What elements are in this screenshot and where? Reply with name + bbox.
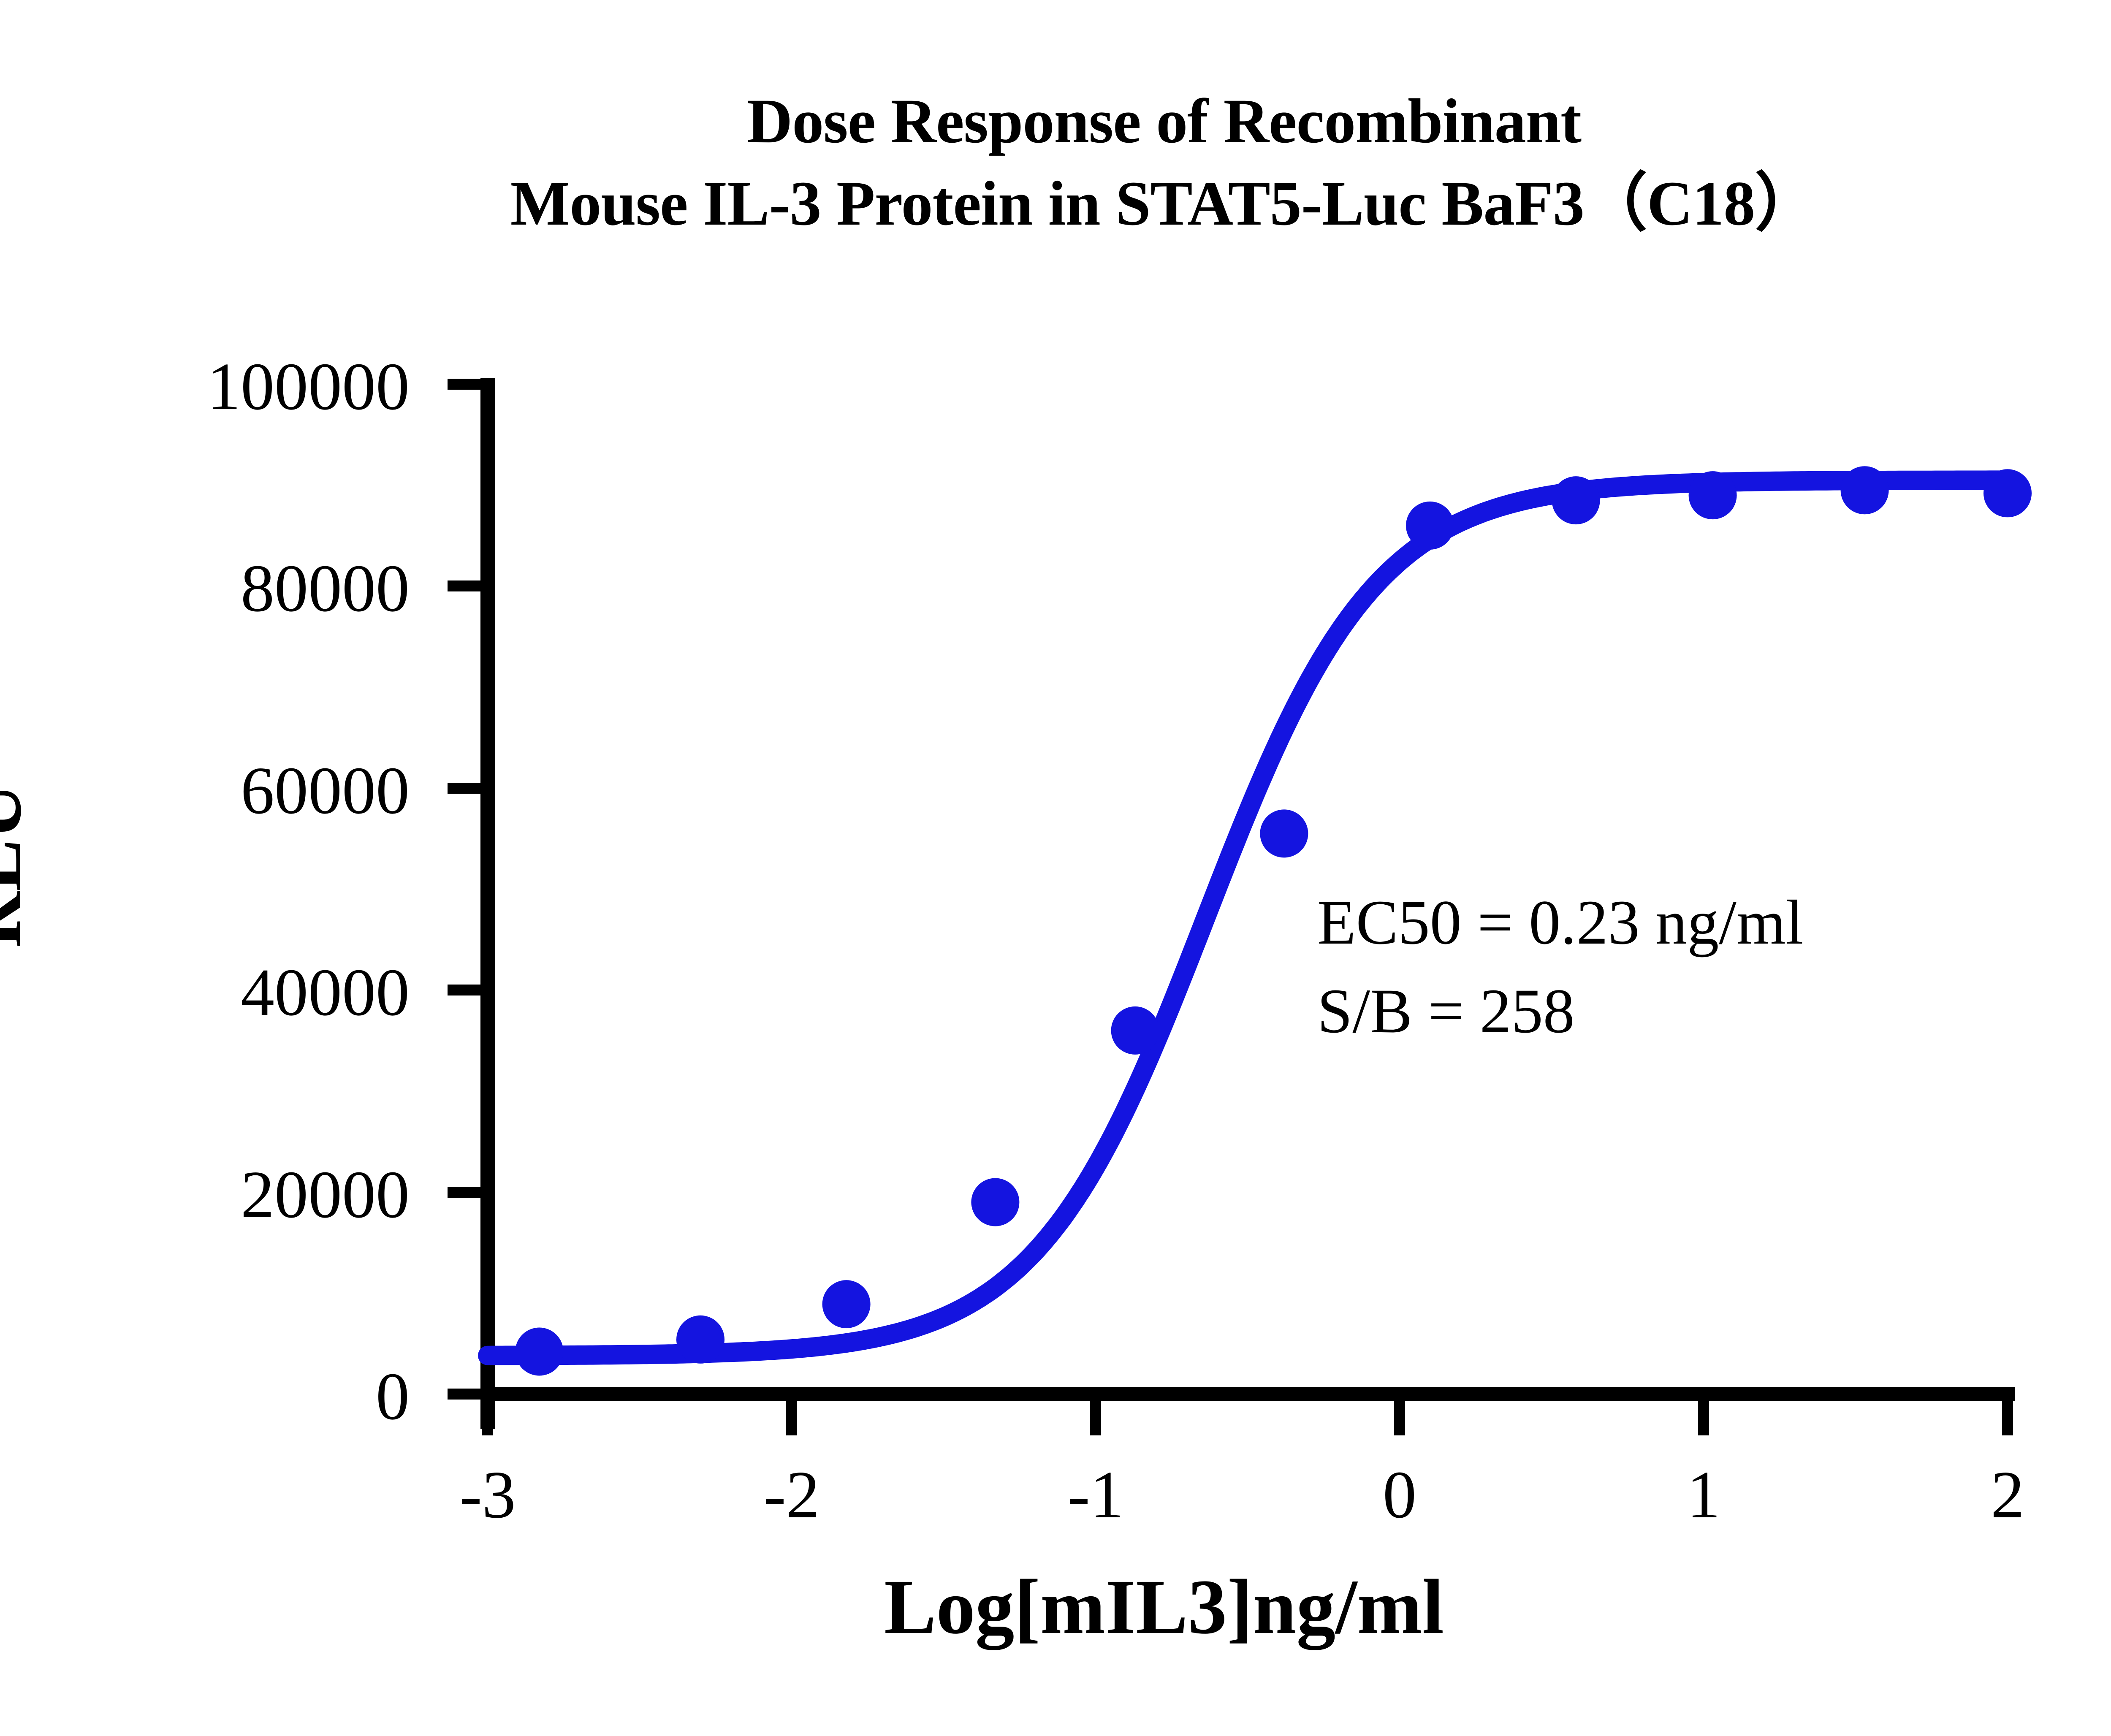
xtick-label-neg1: -1: [1032, 1461, 1159, 1528]
figure-root: Dose Response of Recombinant Mouse IL-3 …: [0, 0, 2111, 1736]
xtick-label-1: 1: [1640, 1461, 1767, 1528]
annotation-block: EC50 = 0.23 ng/ml S/B = 258: [1317, 878, 1803, 1055]
data-point: [822, 1280, 871, 1328]
data-point: [1689, 471, 1737, 519]
ytick-label-20000: 20000: [0, 1161, 410, 1228]
data-point: [971, 1178, 1019, 1226]
data-point: [1841, 466, 1889, 514]
annotation-ec50: EC50 = 0.23 ng/ml: [1317, 878, 1803, 967]
data-point: [1406, 502, 1454, 550]
data-point-group: [515, 466, 2032, 1375]
annotation-sb: S/B = 258: [1317, 967, 1803, 1055]
ytick-label-80000: 80000: [0, 554, 410, 622]
xtick-label-2: 2: [1944, 1461, 2071, 1528]
data-point: [515, 1328, 563, 1376]
data-point: [1111, 1006, 1159, 1055]
xtick-label-neg3: -3: [424, 1461, 551, 1528]
xtick-label-0: 0: [1336, 1461, 1463, 1528]
data-point: [1260, 809, 1308, 857]
data-point: [1552, 476, 1600, 524]
ytick-label-40000: 40000: [0, 958, 410, 1026]
data-point: [676, 1316, 724, 1364]
xtick-label-neg2: -2: [728, 1461, 855, 1528]
ytick-label-60000: 60000: [0, 757, 410, 824]
ytick-label-0: 0: [0, 1362, 410, 1430]
y-axis-title: RLU: [0, 777, 39, 954]
x-axis-title: Log[mIL3]ng/ml: [0, 1562, 2111, 1652]
ytick-label-100000: 100000: [0, 353, 410, 420]
data-point: [1983, 469, 2032, 517]
